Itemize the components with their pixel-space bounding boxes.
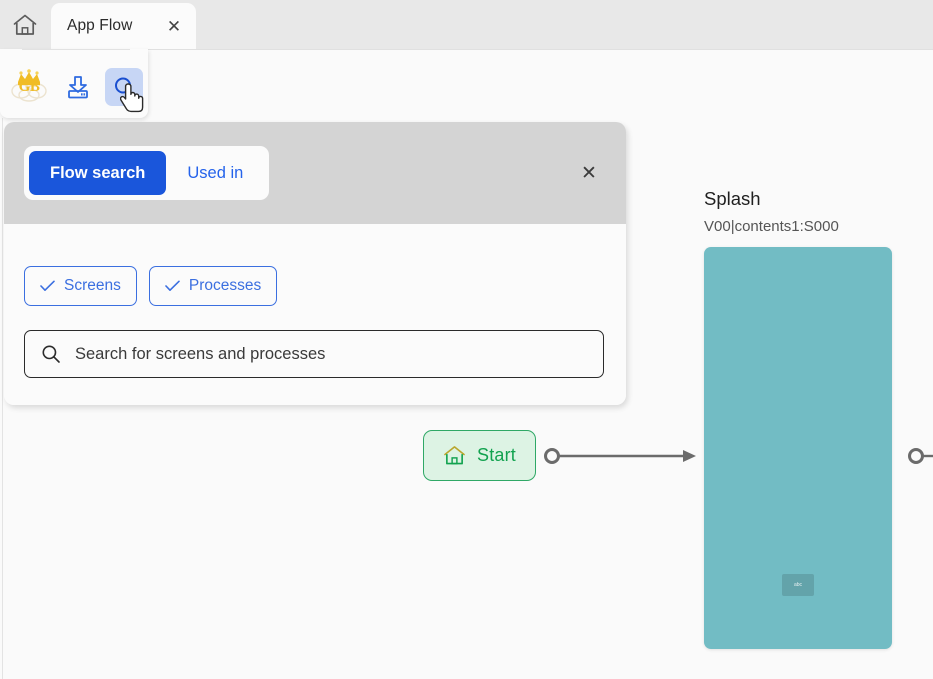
flow-search-panel-header: Flow search Used in ✕ [4, 122, 626, 224]
tab-app-flow-label: App Flow [67, 17, 132, 35]
home-icon [12, 13, 38, 37]
search-input-wrapper[interactable] [24, 330, 604, 378]
filter-chip-screens[interactable]: Screens [24, 266, 137, 306]
flow-search-panel: Flow search Used in ✕ Screens Processes [4, 122, 626, 405]
home-tab-button[interactable] [0, 0, 49, 49]
toolbar-divider [22, 49, 130, 50]
close-icon[interactable]: ✕ [578, 162, 600, 184]
splash-node-subtitle: V00|contents1:S000 [704, 218, 839, 235]
search-input[interactable] [73, 344, 587, 365]
toolbar-gb-logo-button[interactable]: GB [10, 68, 48, 106]
flow-search-panel-body: Screens Processes [4, 224, 626, 405]
filter-chip-screens-label: Screens [64, 277, 121, 295]
import-icon [65, 74, 91, 100]
canvas-left-rail [2, 118, 3, 679]
tab-used-in[interactable]: Used in [166, 151, 264, 195]
search-mode-segmented-control: Flow search Used in [24, 146, 269, 200]
toolbar-search-button[interactable] [105, 68, 143, 106]
gb-logo-icon: GB [8, 66, 50, 108]
app-root: Start Splash V00|contents1:S000 abc App … [0, 0, 933, 679]
check-icon [40, 280, 55, 292]
tab-bar: App Flow ✕ [0, 0, 933, 50]
filter-chip-processes-label: Processes [189, 277, 261, 295]
toolbar-import-button[interactable] [59, 68, 97, 106]
splash-node-title: Splash [704, 188, 761, 210]
filter-chip-processes[interactable]: Processes [149, 266, 277, 306]
check-icon [165, 280, 180, 292]
splash-node-preview[interactable]: abc [704, 247, 892, 649]
start-node-label: Start [477, 445, 516, 466]
splash-inner-label: abc [782, 574, 814, 596]
start-node[interactable]: Start [423, 430, 536, 481]
gb-logo-text: GB [8, 79, 50, 96]
filter-chip-group: Screens Processes [24, 266, 277, 306]
tab-flow-search[interactable]: Flow search [29, 151, 166, 195]
home-icon [443, 445, 466, 466]
search-icon [41, 344, 61, 364]
close-icon[interactable]: ✕ [166, 18, 182, 34]
tab-app-flow[interactable]: App Flow ✕ [51, 3, 196, 49]
search-icon [112, 75, 136, 99]
